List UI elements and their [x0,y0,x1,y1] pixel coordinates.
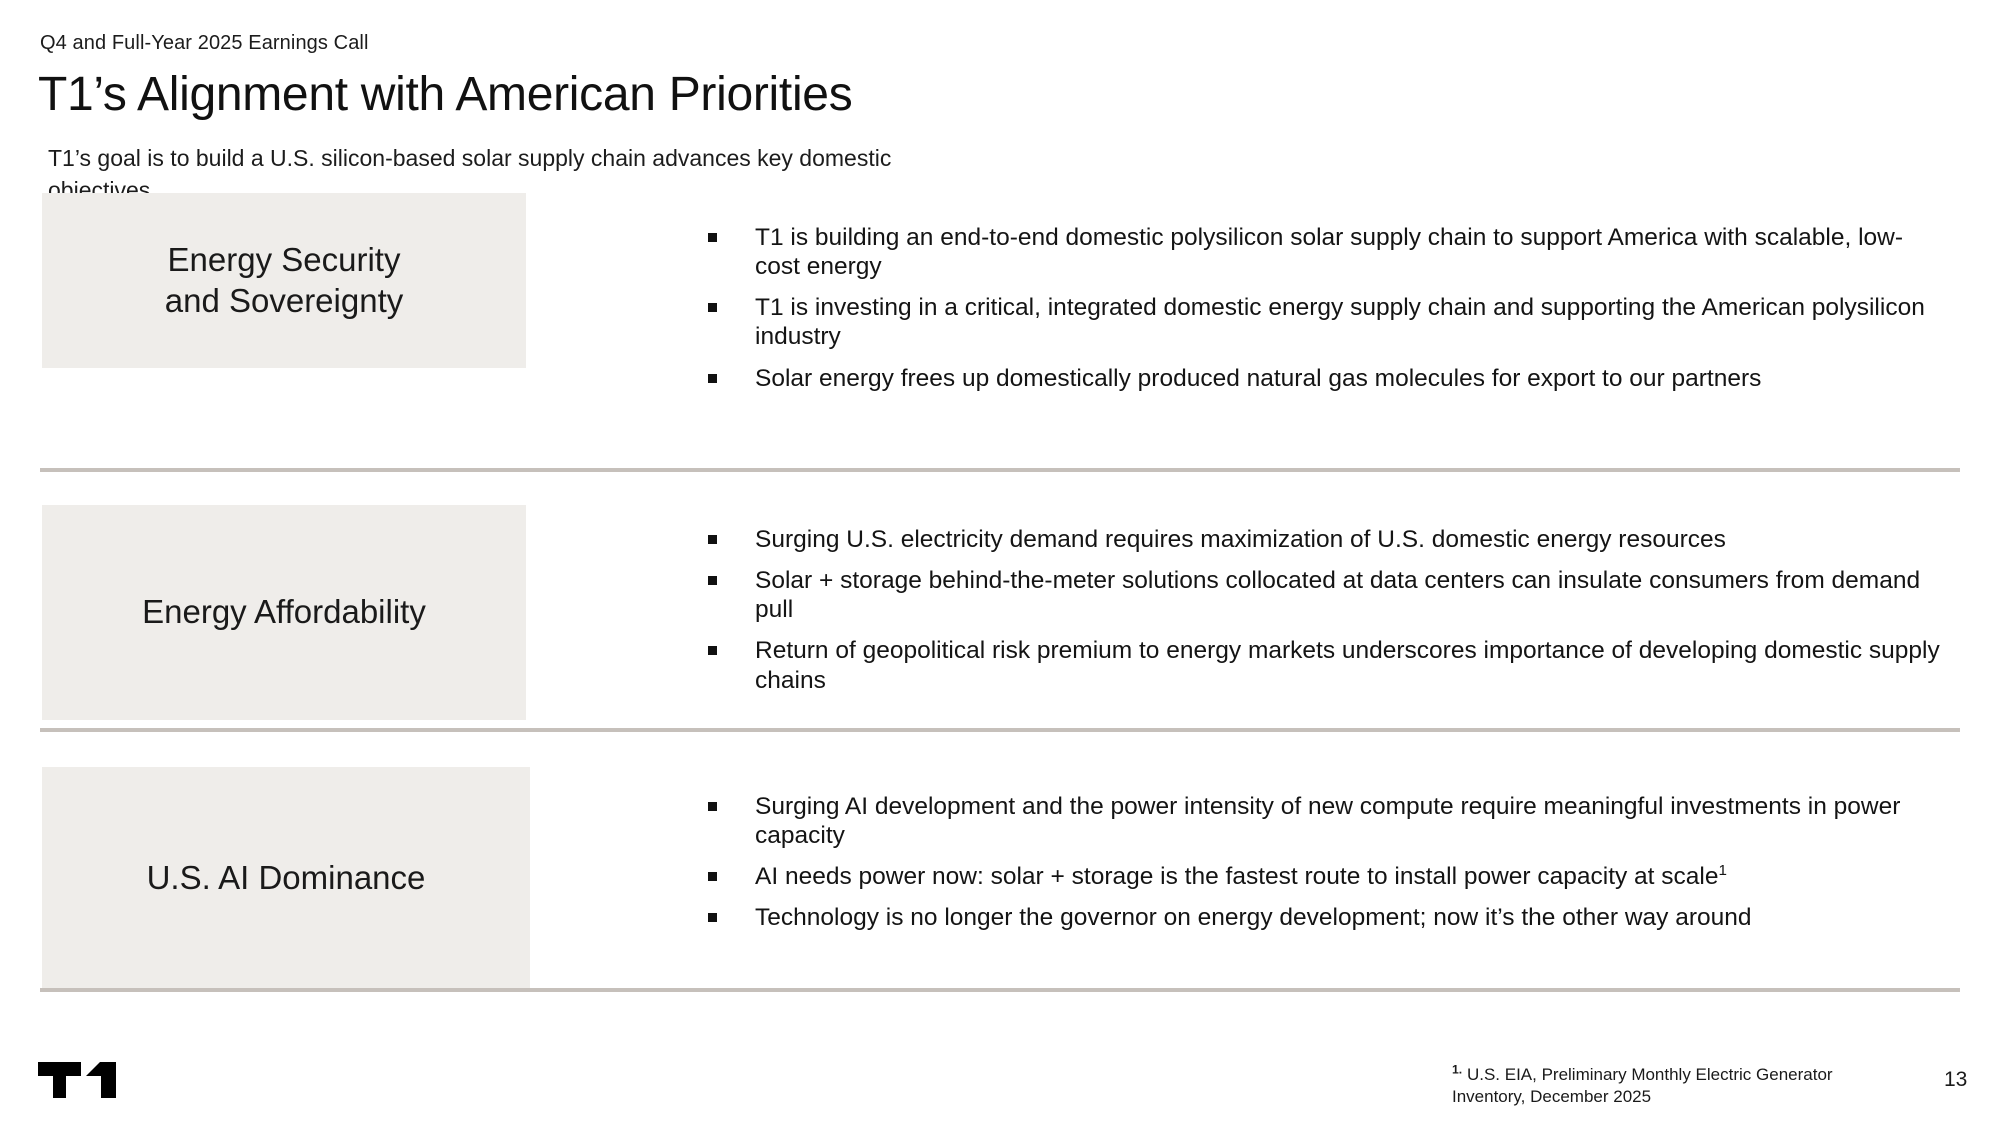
section-label-line1: Energy Security [168,241,401,278]
list-item-text: Surging AI development and the power int… [755,793,1900,849]
section-label: Energy Affordability [124,592,444,632]
list-item-text: Return of geopolitical risk premium to e… [755,637,1940,693]
list-item-text: T1 is investing in a critical, integrate… [755,294,1925,350]
bullet-square-icon [708,233,717,242]
slide-eyebrow: Q4 and Full-Year 2025 Earnings Call [40,32,369,55]
list-item: Surging AI development and the power int… [700,792,1955,850]
slide: Q4 and Full-Year 2025 Earnings Call T1’s… [0,0,2000,1125]
footnote-reference: 1 [1719,862,1727,879]
list-item: AI needs power now: solar + storage is t… [700,862,1955,891]
bullet-square-icon [708,646,717,655]
bullet-square-icon [708,576,717,585]
list-item: Surging U.S. electricity demand requires… [700,525,1950,554]
section-bullet-list: Surging AI development and the power int… [700,792,1955,933]
bullet-square-icon [708,374,717,383]
bullet-square-icon [708,802,717,811]
section-divider [40,728,1960,732]
page-title: T1’s Alignment with American Priorities [38,67,852,122]
list-item-text: Technology is no longer the governor on … [755,904,1752,931]
list-item-text: Solar energy frees up domestically produ… [755,365,1761,392]
bullet-square-icon [708,535,717,544]
list-item-text: T1 is building an end-to-end domestic po… [755,224,1903,280]
list-item: T1 is building an end-to-end domestic po… [700,223,1945,281]
section-bullet-list: Surging U.S. electricity demand requires… [700,525,1950,695]
list-item: Solar + storage behind-the-meter solutio… [700,566,1950,624]
list-item: Solar energy frees up domestically produ… [700,364,1945,393]
section-divider [40,468,1960,472]
bullet-square-icon [708,913,717,922]
bullet-square-icon [708,872,717,881]
section-label: Energy Security and Sovereignty [147,240,422,321]
list-item: Return of geopolitical risk premium to e… [700,636,1950,694]
section-label-panel: Energy Security and Sovereignty [42,193,526,368]
bullet-square-icon [708,303,717,312]
list-item-text: Surging U.S. electricity demand requires… [755,526,1726,553]
page-number: 13 [1944,1068,1967,1092]
section-label-panel: U.S. AI Dominance [42,767,530,989]
section-label: U.S. AI Dominance [129,858,444,898]
section-label-line1: U.S. AI Dominance [147,859,426,896]
section-label-panel: Energy Affordability [42,505,526,720]
section-divider [40,988,1960,992]
footnote: 1. U.S. EIA, Preliminary Monthly Electri… [1452,1064,1882,1109]
list-item-text: AI needs power now: solar + storage is t… [755,863,1719,890]
list-item: Technology is no longer the governor on … [700,903,1955,932]
section-label-line2: and Sovereignty [165,282,404,319]
section-label-line1: Energy Affordability [142,593,426,630]
t1-logo [38,1062,116,1098]
list-item-text: Solar + storage behind-the-meter solutio… [755,567,1920,623]
list-item: T1 is investing in a critical, integrate… [700,293,1945,351]
section-bullet-list: T1 is building an end-to-end domestic po… [700,223,1945,393]
footnote-marker: 1. [1452,1062,1462,1076]
footnote-text: U.S. EIA, Preliminary Monthly Electric G… [1452,1065,1833,1106]
